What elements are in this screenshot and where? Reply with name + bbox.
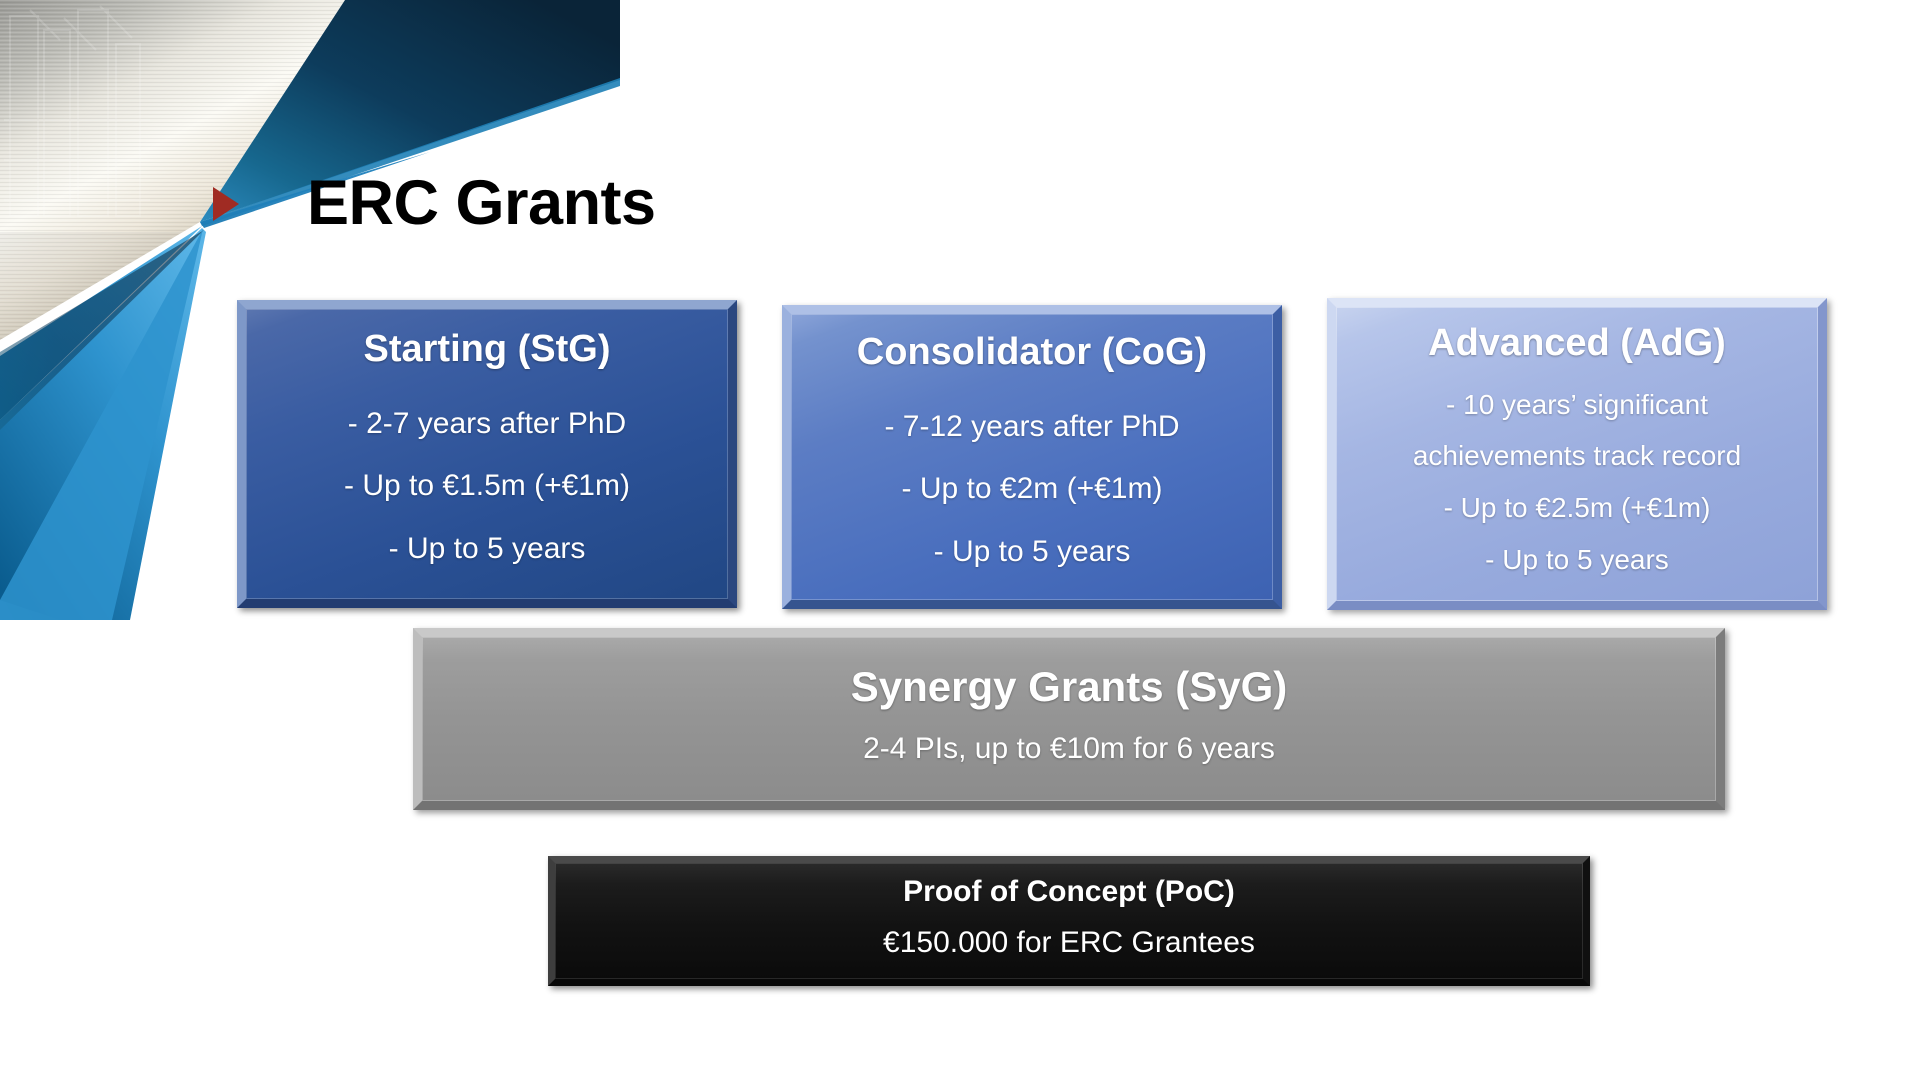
grant-card-advanced-line-3: - Up to €2.5m (+€1m) (1444, 489, 1711, 527)
grant-card-poc-line-1: €150.000 for ERC Grantees (883, 923, 1255, 964)
grant-card-synergy-line-1: 2-4 PIs, up to €10m for 6 years (863, 729, 1275, 770)
grant-card-consolidator-line-3: - Up to 5 years (934, 532, 1131, 573)
grant-card-synergy-title: Synergy Grants (SyG) (851, 663, 1287, 710)
grant-card-synergy-inner: Synergy Grants (SyG) 2-4 PIs, up to €10m… (422, 637, 1716, 801)
slide-canvas: ERC Grants Starting (StG) - 2-7 years af… (0, 0, 1920, 1080)
grant-card-starting-title: Starting (StG) (364, 328, 611, 371)
grant-card-proof-of-concept[interactable]: Proof of Concept (PoC) €150.000 for ERC … (548, 856, 1590, 986)
grant-card-consolidator-title: Consolidator (CoG) (857, 331, 1207, 374)
grant-card-advanced-title: Advanced (AdG) (1428, 322, 1726, 365)
grant-card-starting-inner: Starting (StG) - 2-7 years after PhD - U… (246, 309, 728, 599)
grant-card-advanced-inner: Advanced (AdG) - 10 years’ significant a… (1336, 307, 1818, 601)
grant-card-consolidator-line-2: - Up to €2m (+€1m) (902, 469, 1163, 510)
grant-card-starting[interactable]: Starting (StG) - 2-7 years after PhD - U… (237, 300, 737, 608)
grant-card-consolidator[interactable]: Consolidator (CoG) - 7-12 years after Ph… (782, 305, 1282, 609)
grant-card-consolidator-inner: Consolidator (CoG) - 7-12 years after Ph… (791, 314, 1273, 600)
page-title-row: ERC Grants (213, 172, 656, 235)
grant-card-proof-of-concept-inner: Proof of Concept (PoC) €150.000 for ERC … (555, 863, 1583, 979)
grant-card-starting-line-1: - 2-7 years after PhD (348, 404, 626, 445)
triangle-right-icon (213, 187, 239, 221)
grant-card-advanced-line-4: - Up to 5 years (1485, 541, 1669, 579)
grant-card-synergy[interactable]: Synergy Grants (SyG) 2-4 PIs, up to €10m… (413, 628, 1725, 810)
grant-card-starting-line-2: - Up to €1.5m (+€1m) (344, 466, 630, 507)
grant-card-starting-line-3: - Up to 5 years (389, 529, 586, 570)
grant-card-advanced-line-2: achievements track record (1413, 437, 1741, 475)
grant-card-consolidator-line-1: - 7-12 years after PhD (884, 407, 1179, 448)
grant-card-advanced-line-1: - 10 years’ significant (1446, 386, 1708, 424)
page-title: ERC Grants (307, 172, 656, 235)
grant-card-poc-title: Proof of Concept (PoC) (903, 875, 1235, 909)
grant-card-advanced[interactable]: Advanced (AdG) - 10 years’ significant a… (1327, 298, 1827, 610)
